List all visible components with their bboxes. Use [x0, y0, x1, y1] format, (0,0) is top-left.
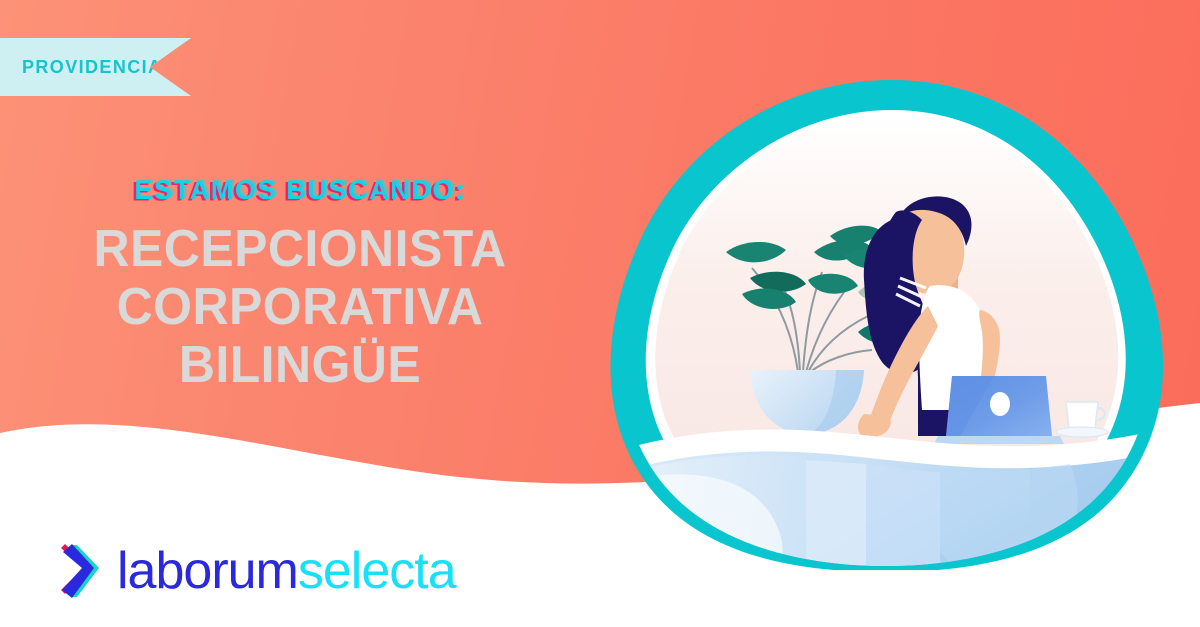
cup-body — [1066, 402, 1098, 428]
brand-logo-wordmark: laborumselecta — [117, 545, 456, 597]
headline-block: ESTAMOS BUSCANDO: RECEPCIONISTA CORPORAT… — [0, 175, 600, 394]
laborum-chevron-mark-icon — [55, 540, 111, 602]
cup-saucer — [1056, 427, 1108, 437]
job-ad-poster: PROVIDENCIA ESTAMOS BUSCANDO: RECEPCIONI… — [0, 0, 1200, 627]
job-title: RECEPCIONISTA CORPORATIVA BILINGÜE — [0, 220, 600, 394]
job-title-line-2: CORPORATIVA BILINGÜE — [12, 278, 588, 394]
laptop — [934, 376, 1064, 444]
laptop-base — [934, 436, 1064, 444]
job-title-line-1: RECEPCIONISTA — [12, 220, 588, 278]
location-ribbon-label: PROVIDENCIA — [22, 57, 162, 78]
desk-panel-mid — [866, 464, 940, 570]
brand-logo[interactable]: laborumselecta — [55, 540, 456, 602]
brand-word-selecta: selecta — [298, 542, 456, 600]
laptop-logo — [990, 392, 1010, 416]
receptionist-illustration — [600, 80, 1185, 570]
kicker-text: ESTAMOS BUSCANDO: — [134, 175, 465, 206]
desk-panel-center — [806, 460, 866, 570]
brand-word-laborum: laborum — [117, 542, 298, 600]
reception-desk — [620, 424, 1180, 570]
